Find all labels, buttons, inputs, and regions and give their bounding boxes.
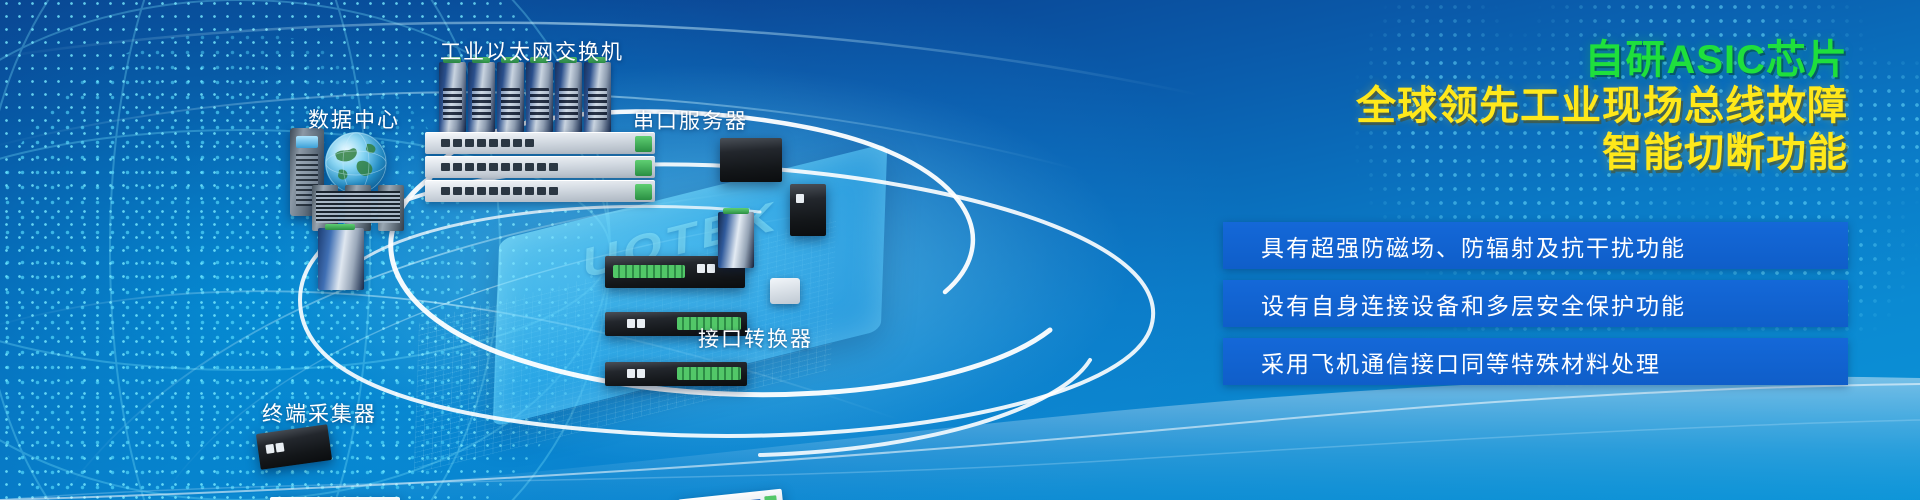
label-terminal-collector: 终端采集器 (262, 398, 377, 428)
green-terminal-block (723, 208, 749, 214)
rack-switch-1u-top (425, 132, 655, 154)
din-rail-switch (584, 62, 611, 132)
interface-converter-adapter (770, 278, 800, 304)
headline-line-2: 全球领先工业现场总线故障 (1356, 83, 1848, 130)
switch-port-row (441, 139, 534, 147)
din-rail-switch (526, 62, 553, 132)
serial-server-din-module (790, 184, 826, 236)
label-serial-server: 串口服务器 (633, 105, 748, 135)
green-terminal-block (764, 495, 779, 500)
green-terminal-block (635, 184, 652, 200)
product-banner: UOTEK (0, 0, 1920, 500)
rack-display-panel (296, 136, 318, 148)
rack-switch-1u-bottom (425, 180, 655, 202)
green-terminal-block (677, 367, 741, 380)
serial-server-small-module (720, 138, 782, 182)
din-rail-switch (497, 62, 524, 132)
label-interface-converter: 接口转换器 (698, 323, 813, 353)
serial-server-rack-lower (605, 362, 747, 386)
terminal-collector-din-module (318, 228, 364, 290)
din-rail-switch (555, 62, 582, 132)
rj45-port-group (265, 442, 284, 453)
headline-line-3: 智能切断功能 (1356, 130, 1848, 177)
feature-box-2[interactable]: 设有自身连接设备和多层安全保护功能 (1223, 280, 1848, 327)
feature-box-1[interactable]: 具有超强防磁场、防辐射及抗干扰功能 (1223, 222, 1848, 269)
headline-line-1: 自研ASIC芯片 (1356, 38, 1848, 83)
server-unit (378, 185, 404, 231)
headline-block: 自研ASIC芯片 全球领先工业现场总线故障 智能切断功能 (1356, 38, 1848, 177)
green-terminal-block (635, 160, 652, 176)
din-rail-switch-row (439, 62, 611, 132)
interface-converter-din-module (718, 212, 754, 268)
rack-switch-1u-middle (425, 156, 655, 178)
rj45-port-group (697, 264, 715, 273)
din-rail-switch (468, 62, 495, 132)
feature-box-list: 具有超强防磁场、防辐射及抗干扰功能 设有自身连接设备和多层安全保护功能 采用飞机… (1223, 222, 1848, 385)
rj45-port-group (627, 319, 645, 328)
switch-port-row (441, 163, 558, 171)
feature-box-3[interactable]: 采用飞机通信接口同等特殊材料处理 (1223, 338, 1848, 385)
rj45-port-group (796, 194, 804, 203)
switch-port-row (441, 187, 558, 195)
green-terminal-block (325, 224, 355, 230)
label-data-center: 数据中心 (308, 104, 400, 134)
industrial-ethernet-switch-stack (425, 62, 655, 182)
green-terminal-block (635, 136, 652, 152)
din-rail-switch (439, 62, 466, 132)
rj45-port-group (627, 369, 645, 378)
label-ethernet-switch: 工业以太网交换机 (440, 36, 624, 66)
green-terminal-block (613, 265, 685, 278)
